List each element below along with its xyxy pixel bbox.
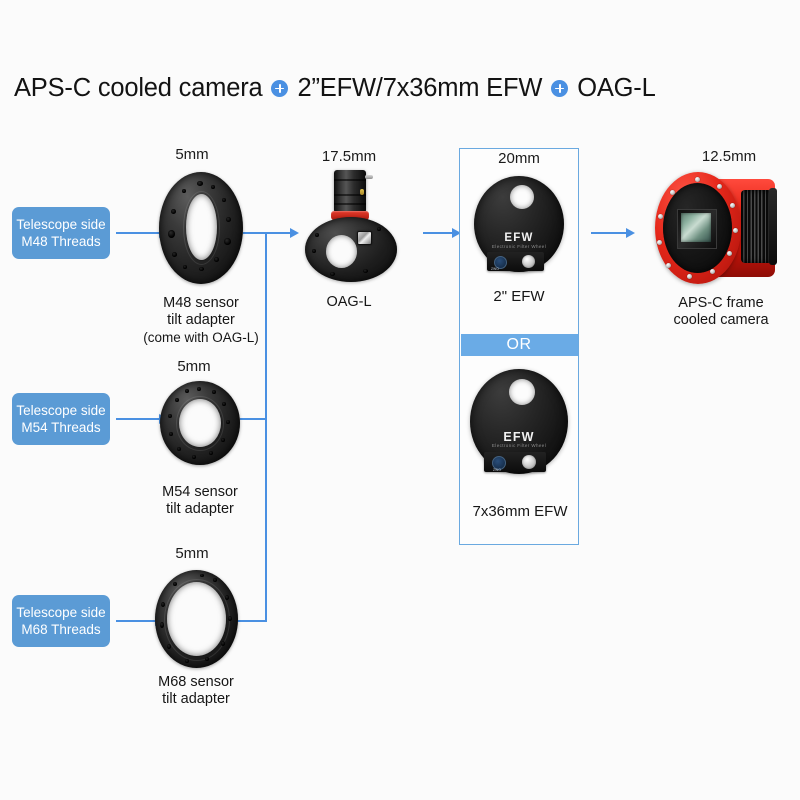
adapter-hole [226, 420, 230, 424]
connector-bus-vertical [265, 232, 267, 622]
dimension-label-m54: 5mm [152, 358, 236, 375]
adapter-hole [225, 595, 229, 600]
oag-hole [330, 272, 335, 276]
adapter-hole [197, 181, 203, 186]
oag-hole [312, 249, 316, 253]
connector-bus-stub-m68 [236, 620, 267, 622]
plus-circle-icon [271, 80, 288, 97]
adapter-hole [200, 574, 204, 577]
adapter-bore-edge [164, 579, 230, 661]
camera-bolt [670, 190, 675, 195]
connector-bus-stub-m48 [243, 232, 267, 234]
adapter-hole [168, 414, 172, 418]
adapter-hole [177, 447, 181, 451]
arrow-head-bus-to-oag [290, 228, 299, 238]
m54-tilt-adapter-image [160, 381, 240, 465]
adapter-hole [172, 252, 177, 257]
connector-m48-in [116, 232, 160, 234]
efw-logo-subtext: Electronic Filter Wheel [474, 244, 564, 249]
adapter-hole [224, 238, 231, 245]
adapter-hole [182, 189, 186, 193]
adapter-hole [222, 402, 226, 406]
connector-bus-stub-m54 [240, 418, 267, 420]
oag-hole [377, 227, 381, 231]
adapter-hole [212, 390, 216, 394]
page-title: APS-C cooled camera 2”EFW/7x36mm EFW OAG… [14, 74, 656, 103]
dimension-label-oag: 17.5mm [301, 148, 397, 165]
oag-prism [357, 231, 372, 245]
arrow-head-efw-to-camera [626, 228, 635, 238]
oag-tube-band [334, 203, 366, 205]
caption-line2: tilt adapter [126, 691, 266, 708]
dimension-label-m48: 5mm [150, 146, 234, 163]
plus-circle-icon [551, 80, 568, 97]
adapter-hole [221, 438, 225, 442]
oag-l-image [305, 170, 397, 282]
oag-hole [363, 269, 368, 273]
oag-bore [326, 235, 357, 268]
camera-heatsink-fins [741, 190, 772, 263]
adapter-hole [213, 578, 217, 582]
title-segment-camera: APS-C cooled camera [14, 74, 262, 103]
caption-oag: OAG-L [301, 294, 397, 311]
caption-line1: M54 sensor [130, 484, 270, 501]
dimension-label-efw2: 20mm [479, 150, 559, 167]
caption-line1: M48 sensor [120, 295, 282, 312]
caption-camera: APS-C frame cooled camera [659, 295, 783, 329]
diagram-canvas: APS-C cooled camera 2”EFW/7x36mm EFW OAG… [0, 0, 800, 800]
adapter-hole [222, 198, 226, 202]
efw-logo-text: EFW [470, 430, 568, 444]
adapter-hole [161, 602, 165, 607]
adapter-hole [183, 265, 187, 269]
camera-bolt [666, 263, 671, 268]
adapter-hole [171, 209, 176, 214]
caption-line1: M68 sensor [126, 674, 266, 691]
side-label-line2: M54 Threads [21, 419, 100, 436]
adapter-hole [192, 455, 196, 459]
caption-efw-7x36: 7x36mm EFW [465, 503, 575, 520]
side-label-m54: Telescope side M54 Threads [12, 393, 110, 445]
side-label-line1: Telescope side [16, 604, 105, 621]
caption-line2: tilt adapter [120, 312, 282, 329]
connector-efw-to-camera [591, 232, 627, 234]
camera-bolt [710, 269, 715, 274]
oag-locking-knob [365, 175, 373, 179]
dimension-label-m68: 5mm [150, 545, 234, 562]
camera-bolt [717, 184, 722, 189]
connector-m68-in [116, 620, 156, 622]
oag-hole [315, 233, 319, 237]
side-label-m68: Telescope side M68 Threads [12, 595, 110, 647]
adapter-hole [168, 230, 175, 238]
adapter-bore-edge [176, 396, 224, 451]
connector-m54-in [116, 418, 160, 420]
adapter-hole [221, 641, 225, 646]
caption-m68-adapter: M68 sensor tilt adapter [126, 674, 266, 708]
caption-m54-adapter: M54 sensor tilt adapter [130, 484, 270, 518]
camera-bolt [695, 177, 700, 182]
efw-logo-text: EFW [474, 232, 564, 244]
adapter-hole [205, 657, 209, 661]
camera-bolt [727, 251, 732, 256]
efw-7x36-image: EFW Electronic Filter Wheel ZWO [470, 369, 568, 474]
adapter-hole [185, 659, 189, 663]
aps-c-camera-image [655, 172, 783, 284]
efw-aperture [510, 185, 534, 209]
side-label-line2: M48 Threads [21, 233, 100, 250]
adapter-hole [211, 185, 215, 189]
caption-line3: (come with OAG-L) [120, 329, 282, 346]
camera-bolt [658, 214, 663, 219]
adapter-hole [199, 267, 204, 271]
adapter-hole [185, 389, 189, 393]
efw-knob [522, 455, 536, 469]
adapter-hole [167, 644, 171, 649]
oag-tube-band [334, 179, 366, 181]
caption-line2: tilt adapter [130, 501, 270, 518]
connector-oag-to-efw [423, 232, 453, 234]
dimension-label-camera: 12.5mm [679, 148, 779, 165]
m48-tilt-adapter-image [159, 172, 243, 284]
or-divider-banner: OR [461, 334, 578, 356]
m68-tilt-adapter-image [155, 570, 238, 668]
efw-logo-subtext: Electronic Filter Wheel [470, 443, 568, 448]
side-label-m48: Telescope side M48 Threads [12, 207, 110, 259]
connector-bus-to-oag [265, 232, 291, 234]
adapter-hole [169, 432, 173, 436]
adapter-bore-edge [183, 191, 220, 265]
adapter-hole [226, 217, 231, 222]
caption-line2: cooled camera [659, 312, 783, 329]
efw-2inch-image: EFW Electronic Filter Wheel ZWO [474, 176, 564, 272]
camera-bolt [733, 228, 738, 233]
title-segment-efw: 2”EFW/7x36mm EFW [297, 74, 542, 103]
side-label-line1: Telescope side [16, 216, 105, 233]
caption-line1: APS-C frame [659, 295, 783, 312]
adapter-hole [209, 451, 213, 455]
camera-sensor [681, 213, 711, 242]
camera-heatsink-cap [769, 188, 777, 265]
efw-aperture [509, 379, 535, 405]
camera-bolt [730, 203, 735, 208]
caption-m48-adapter: M48 sensor tilt adapter (come with OAG-L… [120, 295, 282, 346]
camera-bolt [687, 274, 692, 279]
adapter-hole [197, 387, 201, 391]
camera-bolt [657, 240, 662, 245]
efw-knob [522, 255, 535, 268]
oag-set-screw [360, 189, 364, 195]
adapter-hole [175, 398, 179, 402]
adapter-hole [160, 622, 164, 628]
title-segment-oag: OAG-L [577, 74, 655, 103]
adapter-hole [228, 616, 232, 621]
side-label-line2: M68 Threads [21, 621, 100, 638]
adapter-hole [214, 257, 219, 262]
caption-efw-2inch: 2" EFW [479, 288, 559, 305]
side-label-line1: Telescope side [16, 402, 105, 419]
adapter-hole [173, 582, 177, 586]
